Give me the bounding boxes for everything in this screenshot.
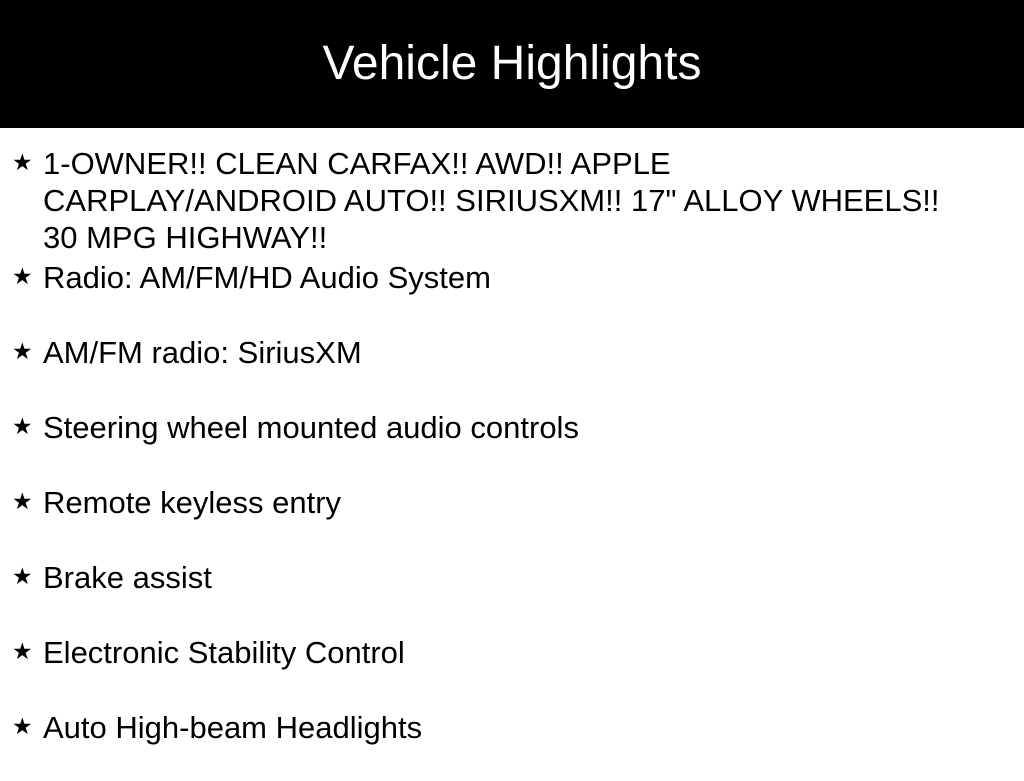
- highlight-item: ★Auto High-beam Headlights: [0, 706, 1024, 781]
- highlight-item: ★1-OWNER!! CLEAN CARFAX!! AWD!! APPLE CA…: [0, 142, 1024, 256]
- highlight-item-label: AM/FM radio: SiriusXM: [43, 331, 960, 371]
- star-icon: ★: [12, 706, 43, 748]
- highlight-item: ★Radio: AM/FM/HD Audio System: [0, 256, 1024, 331]
- highlight-item-label: Brake assist: [43, 556, 960, 596]
- star-icon: ★: [12, 331, 43, 373]
- highlight-item-label: Electronic Stability Control: [43, 631, 960, 671]
- highlight-item: ★Brake assist: [0, 556, 1024, 631]
- highlight-item: ★Remote keyless entry: [0, 481, 1024, 556]
- header-banner: Vehicle Highlights: [0, 0, 1024, 128]
- highlight-item-label: Remote keyless entry: [43, 481, 960, 521]
- highlight-item: ★Electronic Stability Control: [0, 631, 1024, 706]
- star-icon: ★: [12, 556, 43, 598]
- star-icon: ★: [12, 256, 43, 298]
- highlights-body: ★1-OWNER!! CLEAN CARFAX!! AWD!! APPLE CA…: [0, 128, 1024, 781]
- highlight-item-label: Auto High-beam Headlights: [43, 706, 960, 746]
- highlight-item: ★Steering wheel mounted audio controls: [0, 406, 1024, 481]
- page-title: Vehicle Highlights: [323, 40, 702, 88]
- star-icon: ★: [12, 481, 43, 523]
- highlight-item-label: Radio: AM/FM/HD Audio System: [43, 256, 960, 296]
- star-icon: ★: [12, 406, 43, 448]
- vehicle-highlights-slide: Vehicle Highlights ★1-OWNER!! CLEAN CARF…: [0, 0, 1024, 768]
- star-icon: ★: [12, 631, 43, 673]
- star-icon: ★: [12, 142, 43, 184]
- highlight-item-label: 1-OWNER!! CLEAN CARFAX!! AWD!! APPLE CAR…: [43, 142, 960, 256]
- highlight-item: ★AM/FM radio: SiriusXM: [0, 331, 1024, 406]
- highlights-list: ★1-OWNER!! CLEAN CARFAX!! AWD!! APPLE CA…: [0, 128, 1024, 781]
- highlight-item-label: Steering wheel mounted audio controls: [43, 406, 960, 446]
